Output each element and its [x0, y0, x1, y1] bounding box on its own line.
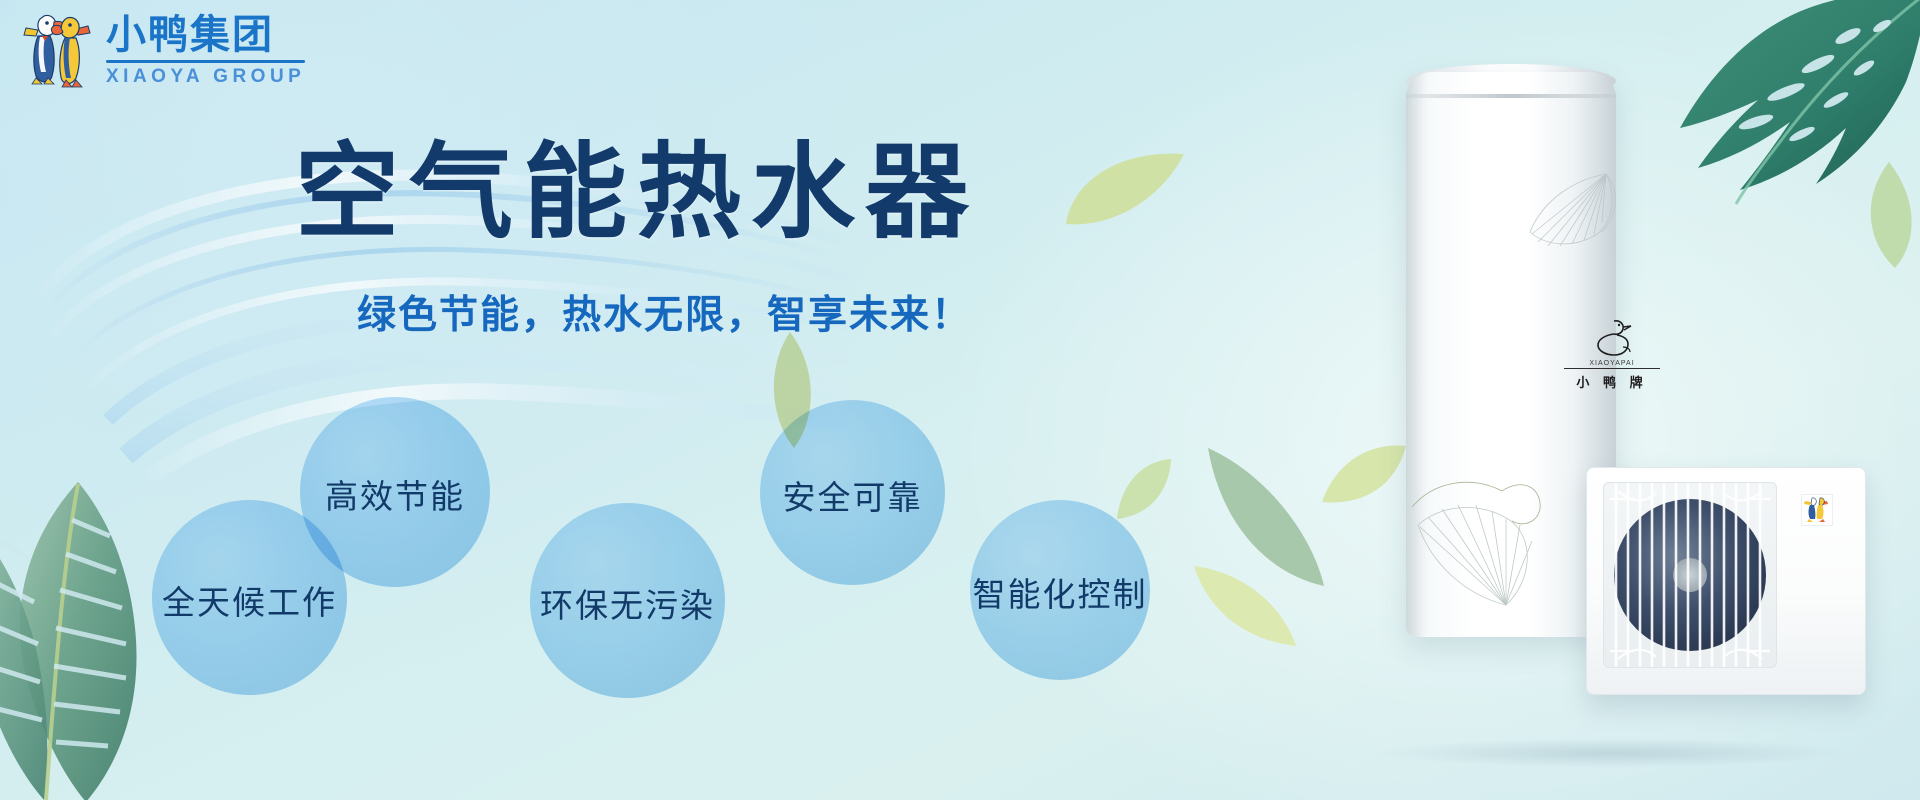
page-subtitle: 绿色节能，热水无限，智享未来！ [357, 284, 1115, 340]
grille-bars [1604, 483, 1776, 667]
brand-logo[interactable]: 小鸭集团 XIAOYA GROUP [18, 10, 305, 90]
product-shadow [1376, 738, 1846, 768]
feature-bubble-label: 智能化控制 [973, 568, 1148, 616]
product-image: XIAOYAPAI 小 鸭 牌 [1306, 72, 1866, 762]
feature-bubble-label: 高效节能 [325, 470, 465, 518]
feature-bubble-label: 环保无污染 [540, 579, 715, 627]
headline-block: 空气能热水器 绿色节能，热水无限，智享未来！ [295, 140, 1115, 340]
feature-bubble-label: 全天候工作 [162, 576, 337, 624]
outdoor-unit [1586, 467, 1866, 695]
duck-outline-icon [1590, 317, 1634, 359]
floating-leaf-icon [1115, 455, 1175, 525]
promo-banner: 小鸭集团 XIAOYA GROUP 空气能热水器 绿色节能，热水无限，智享未来！… [0, 0, 1920, 800]
duck-mascot-pair-icon [18, 10, 96, 90]
feature-bubble-label: 安全可靠 [783, 471, 923, 519]
duck-mascot-sticker-icon [1801, 494, 1833, 526]
floating-leaf-icon [1190, 560, 1300, 650]
tank-brand-mark: XIAOYAPAI 小 鸭 牌 [1558, 317, 1666, 391]
tank-brand-chinese: 小 鸭 牌 [1558, 372, 1666, 391]
logo-chinese-text: 小鸭集团 [106, 15, 305, 55]
water-tank: XIAOYAPAI 小 鸭 牌 [1406, 72, 1616, 637]
logo-english-text: XIAOYA GROUP [106, 67, 305, 86]
tank-brand-divider [1564, 368, 1660, 369]
fan-grille-icon [1603, 482, 1777, 668]
tank-brand-pinyin: XIAOYAPAI [1558, 360, 1666, 367]
page-title: 空气能热水器 [295, 140, 1115, 246]
floral-pattern-icon [1502, 150, 1622, 290]
logo-divider [106, 60, 305, 63]
floral-pattern-icon [1388, 419, 1578, 629]
